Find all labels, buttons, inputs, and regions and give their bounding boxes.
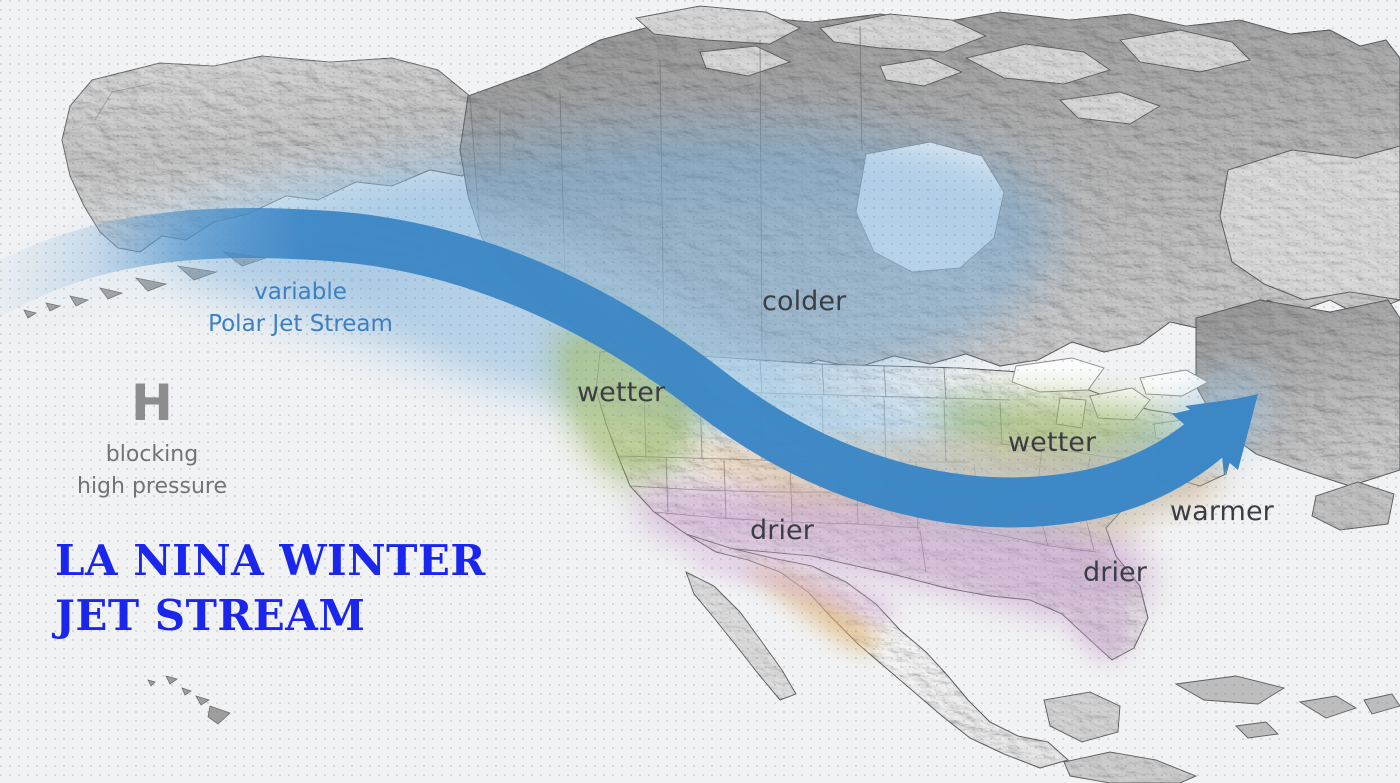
high-pressure-h-symbol: H: [131, 378, 173, 428]
map-label-drier-west: drier: [750, 515, 814, 548]
high-pressure-annotation: blocking high pressure: [62, 439, 242, 503]
map-label-wetter-west: wetter: [577, 377, 665, 410]
map-label-wetter-east: wetter: [1008, 427, 1096, 460]
graphic-title: LA NINA WINTER JET STREAM: [55, 533, 486, 644]
map-label-warmer: warmer: [1170, 496, 1274, 529]
map-label-colder: colder: [762, 286, 846, 319]
map-label-drier-east: drier: [1083, 557, 1147, 590]
weather-map-graphic: colder wetter wetter drier drier warmer …: [0, 0, 1400, 783]
north-america-map: [0, 0, 1400, 783]
jet-stream-annotation: variable Polar Jet Stream: [193, 277, 408, 340]
